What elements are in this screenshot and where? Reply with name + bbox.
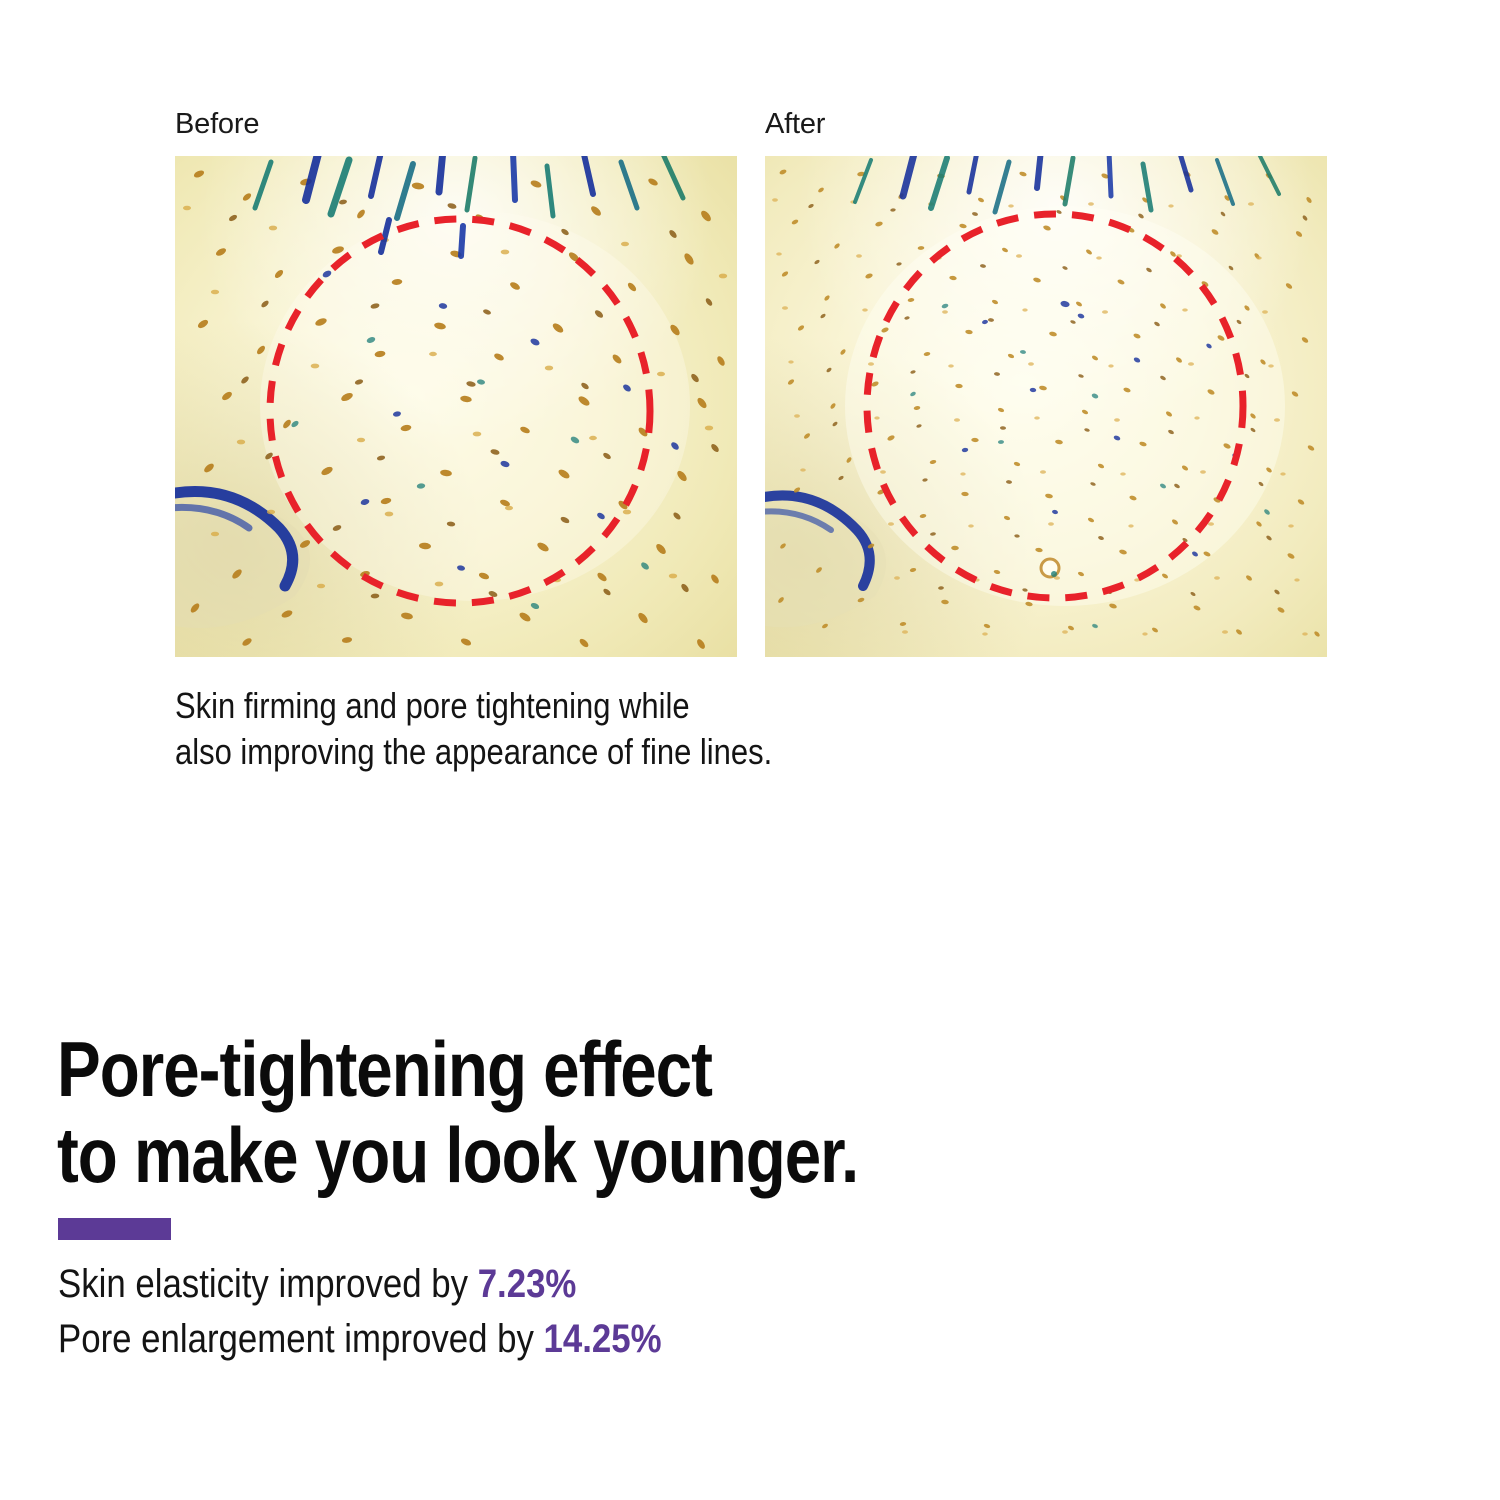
before-after-comparison: Before bbox=[175, 110, 1327, 775]
skin-micrograph-before bbox=[175, 156, 737, 657]
skin-image-after bbox=[765, 156, 1327, 657]
skin-image-before bbox=[175, 156, 737, 657]
skin-micrograph-after bbox=[765, 156, 1327, 657]
panel-row: Before bbox=[175, 110, 1327, 657]
panel-before: Before bbox=[175, 110, 737, 657]
stat-value-pore: 14.25% bbox=[544, 1317, 662, 1361]
panel-after: After bbox=[765, 110, 1327, 657]
panel-label-after: After bbox=[765, 110, 1327, 139]
stat-value-elasticity: 7.23% bbox=[478, 1262, 577, 1306]
comparison-caption: Skin firming and pore tightening while a… bbox=[175, 683, 1166, 775]
pore-spot-highlight bbox=[1041, 559, 1059, 577]
stat-label-pore: Pore enlargement improved by bbox=[58, 1317, 544, 1361]
page-headline: Pore-tightening effect to make you look … bbox=[57, 1027, 858, 1199]
stat-line-elasticity: Skin elasticity improved by 7.23% bbox=[58, 1257, 662, 1312]
stats-list: Skin elasticity improved by 7.23% Pore e… bbox=[58, 1257, 662, 1367]
stat-line-pore: Pore enlargement improved by 14.25% bbox=[58, 1312, 662, 1367]
stat-label-elasticity: Skin elasticity improved by bbox=[58, 1262, 478, 1306]
accent-rule bbox=[58, 1218, 171, 1240]
panel-label-before: Before bbox=[175, 110, 737, 139]
